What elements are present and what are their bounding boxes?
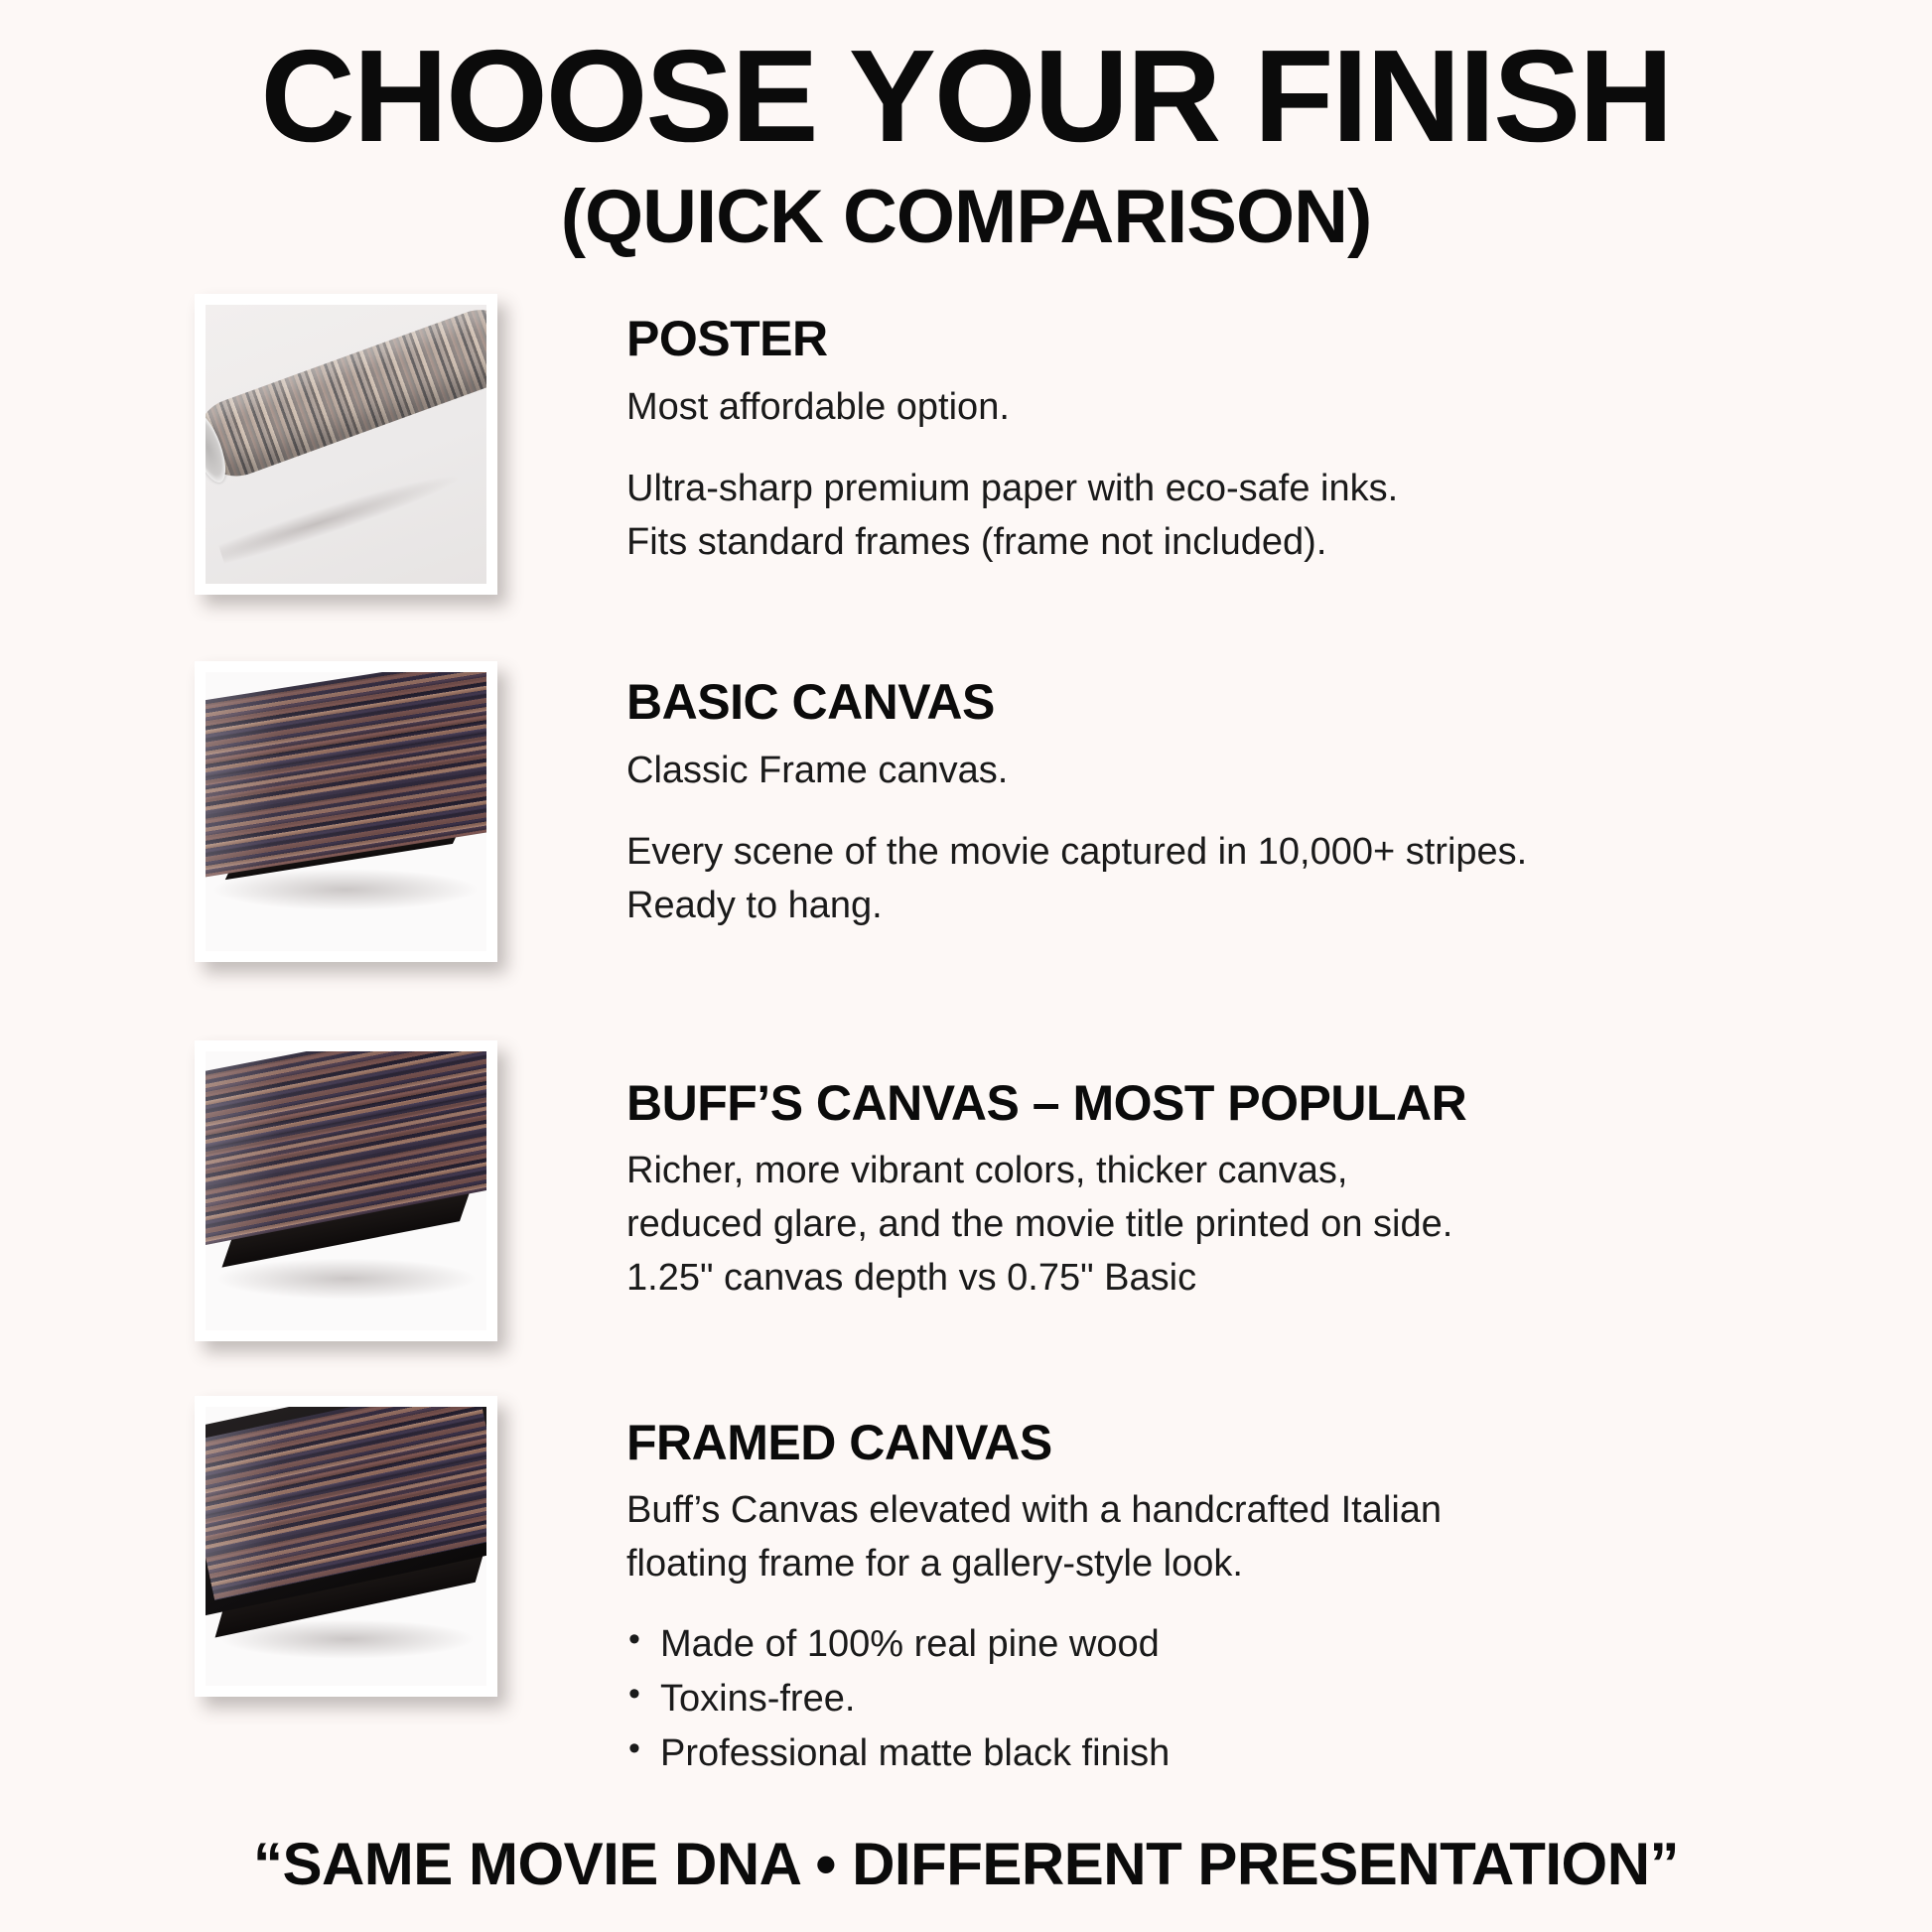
poster-image-card [195, 294, 497, 595]
rolled-poster-photo [206, 305, 486, 584]
buffs-canvas-text-block: BUFF’S CANVAS – MOST POPULAR Richer, mor… [497, 1029, 1466, 1306]
framed-canvas-details: Buff’s Canvas elevated with a handcrafte… [626, 1484, 1442, 1591]
page-subtitle: (QUICK COMPARISON) [0, 176, 1932, 259]
poster-detail-line: Fits standard frames (frame not included… [626, 516, 1398, 570]
basic-canvas-text-block: BASIC CANVAS Classic Frame canvas. Every… [497, 661, 1527, 933]
basic-canvas-detail-line: Ready to hang. [626, 880, 1527, 933]
buffs-canvas-detail-line: Richer, more vibrant colors, thicker can… [626, 1145, 1466, 1198]
finish-option-buffs-canvas: BUFF’S CANVAS – MOST POPULAR Richer, mor… [195, 1029, 1863, 1396]
buffs-canvas-detail-line: 1.25" canvas depth vs 0.75" Basic [626, 1252, 1466, 1306]
basic-canvas-image-card [195, 661, 497, 962]
poster-lead: Most affordable option. [626, 382, 1398, 433]
page-header: CHOOSE YOUR FINISH (QUICK COMPARISON) [0, 0, 1932, 258]
basic-canvas-detail-line: Every scene of the movie captured in 10,… [626, 826, 1527, 880]
basic-canvas-details: Every scene of the movie captured in 10,… [626, 826, 1527, 933]
list-item: Made of 100% real pine wood [626, 1617, 1442, 1672]
framed-canvas-image-card [195, 1396, 497, 1697]
poster-details: Ultra-sharp premium paper with eco-safe … [626, 463, 1398, 570]
basic-canvas-gloss [206, 672, 486, 878]
framed-canvas-photo [206, 1407, 486, 1686]
basic-canvas-lead: Classic Frame canvas. [626, 746, 1527, 796]
page-title: CHOOSE YOUR FINISH [0, 26, 1932, 168]
poster-tube-end [206, 409, 232, 486]
buffs-canvas-details: Richer, more vibrant colors, thicker can… [626, 1145, 1466, 1306]
basic-canvas-slab [206, 672, 486, 878]
finish-option-basic-canvas: BASIC CANVAS Classic Frame canvas. Every… [195, 661, 1863, 1029]
framed-canvas-detail-line: floating frame for a gallery-style look. [626, 1538, 1442, 1591]
finish-option-poster: POSTER Most affordable option. Ultra-sha… [195, 294, 1863, 661]
framed-canvas-heading: FRAMED CANVAS [626, 1416, 1442, 1470]
poster-text-block: POSTER Most affordable option. Ultra-sha… [497, 294, 1398, 570]
list-item: Toxins-free. [626, 1672, 1442, 1726]
poster-heading: POSTER [626, 312, 1398, 366]
framed-canvas-detail-line: Buff’s Canvas elevated with a handcrafte… [626, 1484, 1442, 1538]
buffs-canvas-detail-line: reduced glare, and the movie title print… [626, 1198, 1466, 1252]
list-item: Professional matte black finish [626, 1726, 1442, 1781]
basic-canvas-heading: BASIC CANVAS [626, 675, 1527, 730]
footer-tagline: “SAME MOVIE DNA • DIFFERENT PRESENTATION… [0, 1830, 1932, 1898]
basic-canvas-photo [206, 672, 486, 951]
finish-option-framed-canvas: FRAMED CANVAS Buff’s Canvas elevated wit… [195, 1396, 1863, 1763]
framed-canvas-feature-list: Made of 100% real pine wood Toxins-free.… [626, 1617, 1442, 1781]
buffs-canvas-photo [206, 1051, 486, 1330]
poster-drop-shadow [217, 466, 462, 567]
buffs-canvas-image-card [195, 1040, 497, 1341]
buffs-canvas-heading: BUFF’S CANVAS – MOST POPULAR [626, 1076, 1466, 1131]
buffs-canvas-drop-shadow [215, 1258, 478, 1300]
poster-tube [206, 305, 486, 487]
framed-canvas-text-block: FRAMED CANVAS Buff’s Canvas elevated wit… [497, 1396, 1442, 1781]
poster-detail-line: Ultra-sharp premium paper with eco-safe … [626, 463, 1398, 516]
finish-options-list: POSTER Most affordable option. Ultra-sha… [0, 294, 1932, 1763]
